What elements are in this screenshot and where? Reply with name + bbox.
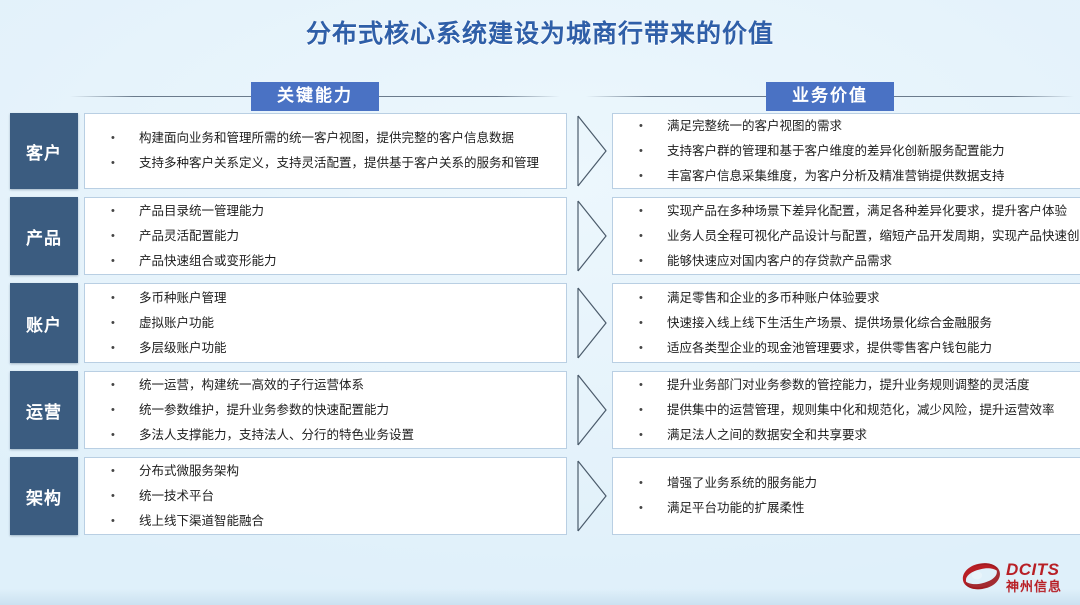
list-item: 能够快速应对国内客户的存贷款产品需求 (627, 249, 1080, 274)
list-item: 适应各类型企业的现金池管理要求，提供零售客户钱包能力 (627, 336, 1080, 361)
brand-name-cn: 神州信息 (1006, 580, 1062, 593)
rows-container: 客户构建面向业务和管理所需的统一客户视图，提供完整的客户信息数据支持多种客户关系… (0, 113, 1080, 543)
value-row: 架构分布式微服务架构统一技术平台线上线下渠道智能融合增强了业务系统的服务能力满足… (0, 457, 1080, 535)
list-item: 统一技术平台 (99, 484, 552, 509)
page-title: 分布式核心系统建设为城商行带来的价值 (0, 14, 1080, 50)
chevron-right-icon (575, 197, 609, 275)
values-panel: 满足完整统一的客户视图的需求支持客户群的管理和基于客户维度的差异化创新服务配置能… (612, 113, 1080, 189)
values-list: 满足完整统一的客户视图的需求支持客户群的管理和基于客户维度的差异化创新服务配置能… (627, 114, 1080, 189)
chevron-right-icon (575, 283, 609, 363)
list-item: 支持客户群的管理和基于客户维度的差异化创新服务配置能力 (627, 139, 1080, 164)
list-item: 快速接入线上线下生活生产场景、提供场景化综合金融服务 (627, 311, 1080, 336)
list-item: 产品灵活配置能力 (99, 224, 552, 249)
list-item: 产品目录统一管理能力 (99, 199, 552, 224)
header-rule-left-tail (379, 96, 560, 97)
list-item: 产品快速组合或变形能力 (99, 249, 552, 274)
value-row: 运营统一运营，构建统一高效的子行运营体系统一参数维护，提升业务参数的快速配置能力… (0, 371, 1080, 449)
column-header-values: 业务价值 (586, 82, 1074, 110)
values-list: 实现产品在多种场景下差异化配置，满足各种差异化要求，提升客户体验业务人员全程可视… (627, 199, 1080, 274)
list-item: 线上线下渠道智能融合 (99, 509, 552, 534)
header-rule-left (70, 96, 251, 97)
swirl-logo-icon (962, 562, 1000, 592)
column-header-capabilities-chip: 关键能力 (251, 82, 379, 111)
list-item: 提供集中的运营管理，规则集中化和规范化，减少风险，提升运营效率 (627, 398, 1080, 423)
row-label-4: 架构 (10, 457, 78, 535)
capabilities-list: 构建面向业务和管理所需的统一客户视图，提供完整的客户信息数据支持多种客户关系定义… (99, 126, 552, 176)
list-item: 满足零售和企业的多币种账户体验要求 (627, 286, 1080, 311)
capabilities-panel: 统一运营，构建统一高效的子行运营体系统一参数维护，提升业务参数的快速配置能力多法… (84, 371, 567, 449)
list-item: 实现产品在多种场景下差异化配置，满足各种差异化要求，提升客户体验 (627, 199, 1080, 224)
list-item: 满足完整统一的客户视图的需求 (627, 114, 1080, 139)
list-item: 分布式微服务架构 (99, 459, 552, 484)
list-item: 业务人员全程可视化产品设计与配置，缩短产品开发周期，实现产品快速创新 (627, 224, 1080, 249)
list-item: 满足平台功能的扩展柔性 (627, 496, 1080, 521)
capabilities-list: 多币种账户管理虚拟账户功能多层级账户功能 (99, 286, 552, 361)
slide-canvas: 分布式核心系统建设为城商行带来的价值 关键能力 业务价值 客户构建面向业务和管理… (0, 0, 1080, 605)
capabilities-list: 统一运营，构建统一高效的子行运营体系统一参数维护，提升业务参数的快速配置能力多法… (99, 373, 552, 448)
values-list: 增强了业务系统的服务能力满足平台功能的扩展柔性 (627, 471, 1080, 521)
chevron-right-icon (575, 113, 609, 189)
header-rule-right-tail (894, 96, 1074, 97)
capabilities-panel: 产品目录统一管理能力产品灵活配置能力产品快速组合或变形能力 (84, 197, 567, 275)
chevron-right-icon (575, 371, 609, 449)
list-item: 构建面向业务和管理所需的统一客户视图，提供完整的客户信息数据 (99, 126, 552, 151)
list-item: 丰富客户信息采集维度，为客户分析及精准营销提供数据支持 (627, 164, 1080, 189)
values-panel: 提升业务部门对业务参数的管控能力，提升业务规则调整的灵活度提供集中的运营管理，规… (612, 371, 1080, 449)
list-item: 统一参数维护，提升业务参数的快速配置能力 (99, 398, 552, 423)
capabilities-list: 分布式微服务架构统一技术平台线上线下渠道智能融合 (99, 459, 552, 534)
row-label-2: 账户 (10, 283, 78, 363)
brand-wordmark: DCITS 神州信息 (1006, 561, 1062, 593)
value-row: 客户构建面向业务和管理所需的统一客户视图，提供完整的客户信息数据支持多种客户关系… (0, 113, 1080, 189)
capabilities-panel: 分布式微服务架构统一技术平台线上线下渠道智能融合 (84, 457, 567, 535)
capabilities-panel: 构建面向业务和管理所需的统一客户视图，提供完整的客户信息数据支持多种客户关系定义… (84, 113, 567, 189)
list-item: 多层级账户功能 (99, 336, 552, 361)
list-item: 增强了业务系统的服务能力 (627, 471, 1080, 496)
list-item: 满足法人之间的数据安全和共享要求 (627, 423, 1080, 448)
column-header-capabilities: 关键能力 (70, 82, 560, 110)
list-item: 支持多种客户关系定义，支持灵活配置，提供基于客户关系的服务和管理 (99, 151, 552, 176)
values-list: 提升业务部门对业务参数的管控能力，提升业务规则调整的灵活度提供集中的运营管理，规… (627, 373, 1080, 448)
value-row: 产品产品目录统一管理能力产品灵活配置能力产品快速组合或变形能力实现产品在多种场景… (0, 197, 1080, 275)
brand-logo: DCITS 神州信息 (962, 561, 1062, 593)
row-label-1: 产品 (10, 197, 78, 275)
row-label-0: 客户 (10, 113, 78, 189)
capabilities-panel: 多币种账户管理虚拟账户功能多层级账户功能 (84, 283, 567, 363)
values-panel: 增强了业务系统的服务能力满足平台功能的扩展柔性 (612, 457, 1080, 535)
brand-name-en: DCITS (1006, 561, 1062, 578)
capabilities-list: 产品目录统一管理能力产品灵活配置能力产品快速组合或变形能力 (99, 199, 552, 274)
list-item: 统一运营，构建统一高效的子行运营体系 (99, 373, 552, 398)
list-item: 多法人支撑能力，支持法人、分行的特色业务设置 (99, 423, 552, 448)
values-list: 满足零售和企业的多币种账户体验要求快速接入线上线下生活生产场景、提供场景化综合金… (627, 286, 1080, 361)
value-row: 账户多币种账户管理虚拟账户功能多层级账户功能满足零售和企业的多币种账户体验要求快… (0, 283, 1080, 363)
values-panel: 满足零售和企业的多币种账户体验要求快速接入线上线下生活生产场景、提供场景化综合金… (612, 283, 1080, 363)
column-header-values-chip: 业务价值 (766, 82, 894, 111)
list-item: 提升业务部门对业务参数的管控能力，提升业务规则调整的灵活度 (627, 373, 1080, 398)
values-panel: 实现产品在多种场景下差异化配置，满足各种差异化要求，提升客户体验业务人员全程可视… (612, 197, 1080, 275)
chevron-right-icon (575, 457, 609, 535)
row-label-3: 运营 (10, 371, 78, 449)
header-rule-right (586, 96, 766, 97)
list-item: 虚拟账户功能 (99, 311, 552, 336)
list-item: 多币种账户管理 (99, 286, 552, 311)
